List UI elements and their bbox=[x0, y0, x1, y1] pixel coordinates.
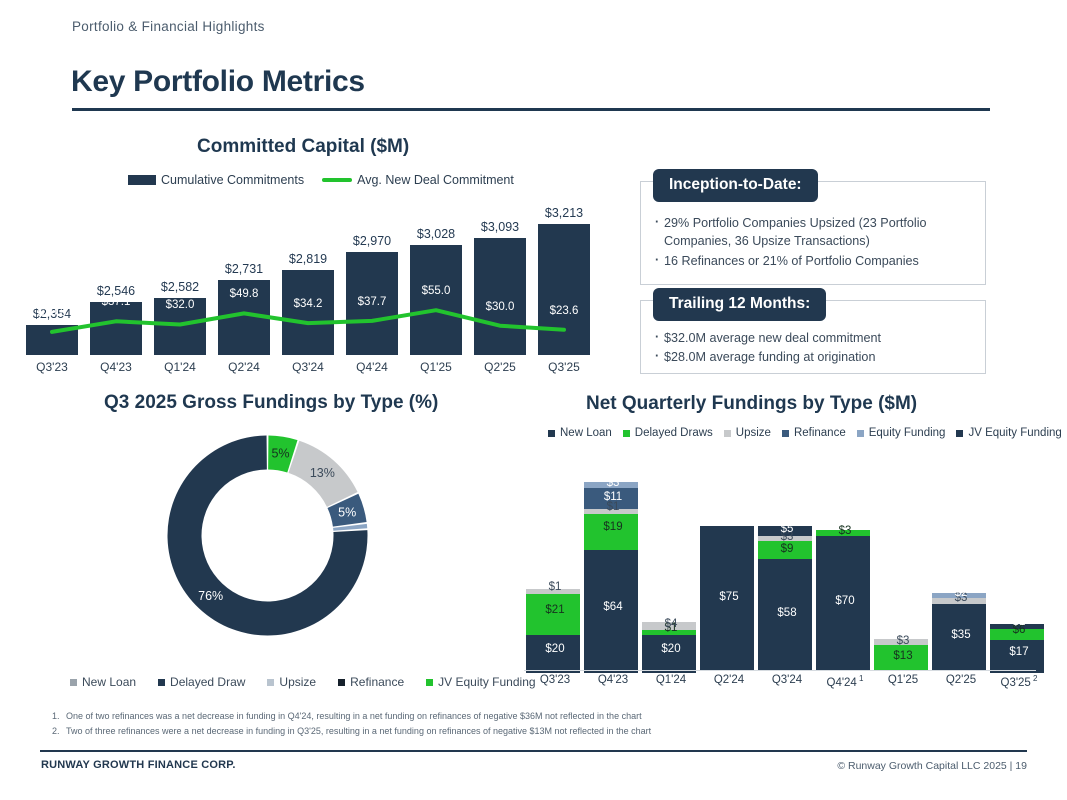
x-axis-label: Q3'23 bbox=[22, 360, 82, 374]
donut-slice-label: 13% bbox=[310, 466, 335, 480]
bar bbox=[26, 325, 78, 355]
legend-item-jv-equity-funding: JV Equity Funding bbox=[956, 427, 1061, 439]
legend-swatch-icon bbox=[956, 430, 963, 437]
x-axis-label: Q1'24 bbox=[150, 360, 210, 374]
x-axis-label-text: Q1'24 bbox=[656, 674, 686, 686]
legend-label: Cumulative Commitments bbox=[161, 173, 304, 187]
legend-item-upsize: Upsize bbox=[267, 675, 316, 689]
donut-svg: 5%13%5%1%76% bbox=[160, 428, 375, 643]
x-axis-label: Q4'24 bbox=[342, 360, 402, 374]
slide-eyebrow: Portfolio & Financial Highlights bbox=[72, 19, 265, 34]
line-value-label: $32.0 bbox=[150, 299, 210, 311]
x-axis-label: Q3'25 2 bbox=[984, 674, 1054, 689]
legend-label: Delayed Draws bbox=[635, 427, 713, 439]
footer-copyright: © Runway Growth Capital LLC 2025 | 19 bbox=[837, 760, 1027, 772]
legend-label: New Loan bbox=[82, 675, 136, 689]
donut-slice-label: 5% bbox=[338, 505, 356, 519]
bar-segment-label: $3 bbox=[874, 636, 932, 648]
line-value-label: $23.6 bbox=[534, 305, 594, 317]
footer-divider bbox=[40, 750, 1027, 752]
committed-capital-legend: Cumulative Commitments Avg. New Deal Com… bbox=[128, 173, 532, 187]
line-value-label: $55.0 bbox=[406, 285, 466, 297]
callout-bullet: 16 Refinances or 21% of Portfolio Compan… bbox=[655, 252, 973, 270]
legend-label: JV Equity Funding bbox=[968, 427, 1061, 439]
x-axis-label-text: Q2'24 bbox=[714, 674, 744, 686]
stacked-chart-baseline bbox=[524, 670, 1036, 671]
x-axis-label: Q2'24 bbox=[214, 360, 274, 374]
donut-slice-label: 76% bbox=[198, 589, 223, 603]
x-axis-label-text: Q3'23 bbox=[540, 674, 570, 686]
bar-segment-label: $64 bbox=[584, 602, 642, 614]
net-quarterly-fundings-plot: $20$21$1$64$19$1$11$3$20$1$4$75$58$9$3$5… bbox=[520, 455, 1040, 670]
callout-bullet: 29% Portfolio Companies Upsized (23 Port… bbox=[655, 214, 973, 251]
bar-segment-label: $13 bbox=[874, 651, 932, 663]
title-divider bbox=[72, 108, 990, 111]
x-axis-label-text: Q3'25 bbox=[1001, 677, 1031, 689]
donut-slice-label: 5% bbox=[271, 447, 289, 461]
legend-swatch-line-icon bbox=[322, 178, 352, 182]
x-axis-label: Q1'25 bbox=[406, 360, 466, 374]
x-axis-label: Q3'25 bbox=[534, 360, 594, 374]
footnote: 2.Two of three refinances were a net dec… bbox=[52, 724, 651, 739]
legend-item-upsize: Upsize bbox=[724, 427, 771, 439]
bar-segment-label: $70 bbox=[816, 596, 874, 608]
legend-item-refinance: Refinance bbox=[338, 675, 404, 689]
legend-swatch-icon bbox=[724, 430, 731, 437]
callout-bullet: $32.0M average new deal commitment bbox=[655, 329, 973, 347]
legend-swatch-icon bbox=[548, 430, 555, 437]
bar-segment-label: $3 bbox=[816, 526, 874, 538]
legend-label: Upsize bbox=[279, 675, 316, 689]
legend-item-avg-new-deal-commitment: Avg. New Deal Commitment bbox=[322, 173, 514, 187]
bar bbox=[538, 224, 590, 355]
bar bbox=[282, 270, 334, 355]
bar-segment-label: $5 bbox=[758, 524, 816, 536]
footnote-text: Two of three refinances were a net decre… bbox=[66, 726, 651, 736]
gross-fundings-legend: New LoanDelayed DrawUpsizeRefinanceJV Eq… bbox=[70, 675, 558, 689]
legend-item-cumulative-commitments: Cumulative Commitments bbox=[128, 173, 304, 187]
line-value-label: $37.7 bbox=[342, 296, 402, 308]
bar-segment-label: $35 bbox=[932, 630, 990, 642]
x-axis-label: Q4'23 bbox=[86, 360, 146, 374]
bar-segment-label: $75 bbox=[700, 592, 758, 604]
x-axis-footnote-marker: 1 bbox=[857, 674, 864, 683]
gross-fundings-title: Q3 2025 Gross Fundings by Type (%) bbox=[104, 392, 438, 414]
bar-value-label: $2,731 bbox=[214, 262, 274, 276]
line-value-label: $20.0 bbox=[22, 307, 82, 319]
x-axis-label: Q2'25 bbox=[470, 360, 530, 374]
footer-company: RUNWAY GROWTH FINANCE CORP. bbox=[41, 759, 236, 771]
legend-label: Refinance bbox=[350, 675, 404, 689]
bar-value-label: $3,028 bbox=[406, 227, 466, 241]
line-value-label: $37.1 bbox=[86, 296, 146, 308]
footnotes: 1.One of two refinances was a net decrea… bbox=[52, 709, 651, 739]
x-axis-footnote-marker: 2 bbox=[1031, 674, 1038, 683]
bar-segment-label: $1 bbox=[990, 617, 1048, 629]
bar bbox=[410, 245, 462, 355]
bar-value-label: $2,970 bbox=[342, 234, 402, 248]
legend-swatch-icon bbox=[70, 679, 77, 686]
net-quarterly-fundings-title: Net Quarterly Fundings by Type ($M) bbox=[586, 393, 917, 415]
x-axis-label-text: Q4'24 bbox=[827, 677, 857, 689]
line-value-label: $30.0 bbox=[470, 301, 530, 313]
bar-segment-label: $20 bbox=[642, 644, 700, 656]
bar-segment-label: $20 bbox=[526, 644, 584, 656]
bar-segment-label: $19 bbox=[584, 522, 642, 534]
footnote: 1.One of two refinances was a net decrea… bbox=[52, 709, 651, 724]
footnote-number: 2. bbox=[52, 724, 66, 739]
legend-label: Upsize bbox=[736, 427, 771, 439]
callout-heading-trailing-12-months: Trailing 12 Months: bbox=[653, 288, 826, 321]
line-value-label: $49.8 bbox=[214, 288, 274, 300]
legend-item-equity-funding: Equity Funding bbox=[857, 427, 946, 439]
committed-capital-plot: $2,354$20.0$2,546$37.1$2,582$32.0$2,731$… bbox=[18, 200, 618, 355]
footnote-text: One of two refinances was a net decrease… bbox=[66, 711, 642, 721]
x-axis-label: Q3'24 bbox=[278, 360, 338, 374]
legend-swatch-icon bbox=[623, 430, 630, 437]
legend-item-refinance: Refinance bbox=[782, 427, 846, 439]
bar-value-label: $2,582 bbox=[150, 280, 210, 294]
callout-bullet: $28.0M average funding at origination bbox=[655, 348, 973, 366]
x-axis-label-text: Q2'25 bbox=[946, 674, 976, 686]
bar-segment-label: $1 bbox=[526, 582, 584, 594]
bar-value-label: $3,213 bbox=[534, 206, 594, 220]
net-quarterly-fundings-legend: New LoanDelayed DrawsUpsizeRefinanceEqui… bbox=[548, 427, 1067, 439]
bar bbox=[474, 238, 526, 355]
legend-swatch-icon bbox=[338, 679, 345, 686]
legend-label: Equity Funding bbox=[869, 427, 946, 439]
legend-swatch-icon bbox=[158, 679, 165, 686]
legend-swatch-icon bbox=[426, 679, 433, 686]
x-axis-label-text: Q4'23 bbox=[598, 674, 628, 686]
legend-label: Delayed Draw bbox=[170, 675, 245, 689]
stacked-bar-column bbox=[526, 589, 580, 670]
bar-value-label: $3,093 bbox=[470, 220, 530, 234]
line-value-label: $34.2 bbox=[278, 298, 338, 310]
legend-swatch-icon bbox=[782, 430, 789, 437]
bar-segment-label: $58 bbox=[758, 608, 816, 620]
callout-heading-inception-to-date: Inception-to-Date: bbox=[653, 169, 818, 202]
x-axis-label-text: Q1'25 bbox=[888, 674, 918, 686]
legend-swatch-bar-icon bbox=[128, 175, 156, 185]
legend-item-delayed-draw: Delayed Draw bbox=[158, 675, 245, 689]
legend-item-new-loan: New Loan bbox=[70, 675, 136, 689]
page-title: Key Portfolio Metrics bbox=[71, 65, 365, 99]
bar bbox=[90, 302, 142, 355]
bar-segment-label: $9 bbox=[758, 544, 816, 556]
bar-segment-label: $21 bbox=[526, 605, 584, 617]
legend-item-new-loan: New Loan bbox=[548, 427, 612, 439]
committed-capital-title: Committed Capital ($M) bbox=[197, 136, 409, 158]
bar-segment-label: $1 bbox=[584, 502, 642, 514]
legend-label: Refinance bbox=[794, 427, 846, 439]
bar-segment-label: $17 bbox=[990, 647, 1048, 659]
bar-segment-label: $2 bbox=[932, 588, 990, 600]
bar-value-label: $2,819 bbox=[278, 252, 338, 266]
legend-label: New Loan bbox=[560, 427, 612, 439]
bar-segment-label: $3 bbox=[584, 478, 642, 490]
x-axis-label-text: Q3'24 bbox=[772, 674, 802, 686]
legend-swatch-icon bbox=[267, 679, 274, 686]
bar-segment-label: $11 bbox=[584, 492, 642, 504]
footnote-number: 1. bbox=[52, 709, 66, 724]
slide: Portfolio & Financial Highlights Key Por… bbox=[0, 0, 1067, 800]
legend-item-delayed-draws: Delayed Draws bbox=[623, 427, 713, 439]
legend-label: Avg. New Deal Commitment bbox=[357, 173, 514, 187]
legend-swatch-icon bbox=[857, 430, 864, 437]
bar-segment-label: $4 bbox=[642, 619, 700, 631]
gross-fundings-donut: 5%13%5%1%76% bbox=[160, 428, 375, 643]
